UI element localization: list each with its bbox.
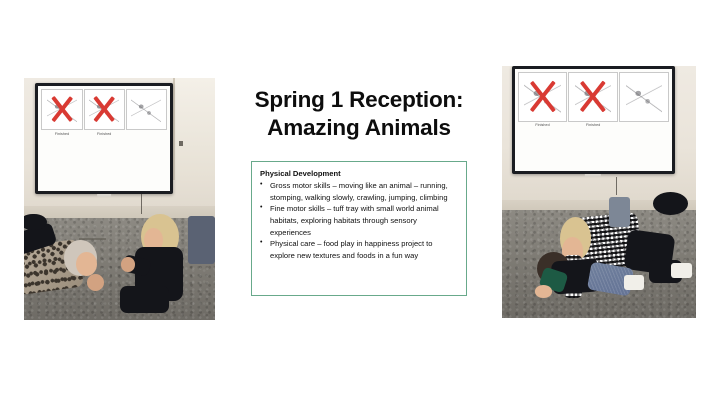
visual-card-image bbox=[568, 72, 618, 122]
photo-right-classroom: Finished Finished bbox=[502, 66, 696, 318]
line-drawing bbox=[626, 79, 662, 115]
red-x-icon bbox=[571, 75, 615, 119]
physical-development-textbox: Physical Development Gross motor skills … bbox=[251, 161, 467, 296]
visual-card-image bbox=[518, 72, 568, 122]
child-hand bbox=[535, 285, 552, 298]
red-x-icon bbox=[521, 75, 565, 119]
title-line-2: Amazing Animals bbox=[228, 114, 490, 142]
title-line-1: Spring 1 Reception: bbox=[228, 86, 490, 114]
visual-card-image bbox=[619, 72, 669, 122]
child-shoe bbox=[624, 275, 643, 290]
line-drawing bbox=[131, 95, 161, 125]
background-person bbox=[609, 197, 630, 227]
red-x-icon bbox=[44, 91, 80, 127]
smartboard-stand bbox=[585, 174, 601, 177]
visual-card bbox=[620, 72, 668, 123]
visual-card: Finished bbox=[85, 89, 124, 136]
visual-card: Finished bbox=[569, 72, 617, 127]
list-item: Fine motor skills – tuff tray with small… bbox=[258, 203, 459, 238]
textbox-heading: Physical Development bbox=[260, 168, 459, 179]
visual-card-label: Finished bbox=[586, 123, 600, 127]
visual-card-label: Finished bbox=[97, 132, 111, 136]
adult-face bbox=[76, 252, 97, 276]
visual-card-image bbox=[41, 89, 82, 130]
page-title: Spring 1 Reception: Amazing Animals bbox=[228, 86, 490, 142]
photo-left-wall-socket bbox=[179, 141, 183, 146]
textbox-bullet-list: Gross motor skills – moving like an anim… bbox=[258, 180, 459, 261]
visual-card-image bbox=[84, 89, 125, 130]
list-item: Gross motor skills – moving like an anim… bbox=[258, 180, 459, 203]
photo-right-cable bbox=[616, 177, 617, 195]
photo-left-cable bbox=[141, 194, 142, 213]
child-hand bbox=[121, 257, 134, 272]
photo-left-door bbox=[173, 78, 215, 180]
visual-card bbox=[127, 89, 166, 132]
adult-shoe bbox=[671, 263, 692, 278]
photo-left-smartboard-screen: Finished Finished bbox=[38, 86, 170, 191]
visual-card-label: Finished bbox=[535, 123, 549, 127]
background-person-legs bbox=[188, 216, 215, 264]
list-item: Physical care – food play in happiness p… bbox=[258, 238, 459, 261]
photo-left-smartboard: Finished Finished bbox=[35, 83, 173, 194]
photo-left-classroom: Finished Finished bbox=[24, 78, 215, 320]
smartboard-stand bbox=[97, 194, 111, 197]
child-legs bbox=[120, 286, 170, 313]
adult-hands bbox=[87, 274, 104, 291]
background-shoe bbox=[653, 192, 688, 215]
visual-card-label: Finished bbox=[55, 132, 69, 136]
visual-card: Finished bbox=[519, 72, 567, 127]
visual-card-image bbox=[126, 89, 167, 130]
photo-right-smartboard: Finished Finished bbox=[512, 66, 675, 174]
red-x-icon bbox=[86, 91, 122, 127]
slide-canvas: Spring 1 Reception: Amazing Animals Phys… bbox=[0, 0, 720, 405]
photo-right-smartboard-screen: Finished Finished bbox=[515, 69, 672, 171]
visual-card: Finished bbox=[42, 89, 81, 136]
